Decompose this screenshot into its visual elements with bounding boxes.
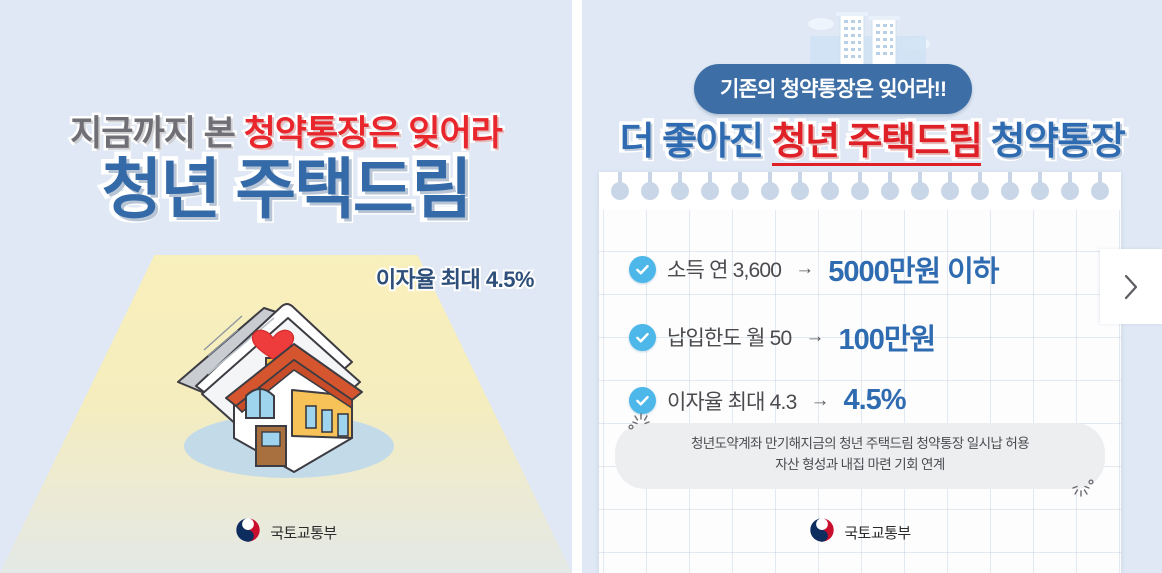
list-item: 이자율 최대 4.3 → 4.5% bbox=[629, 384, 1107, 417]
korea-government-taegeuk-logo bbox=[809, 517, 835, 548]
check-circle-icon bbox=[629, 256, 656, 283]
binding-hole bbox=[1001, 172, 1019, 206]
ministry-label-left: 국토교통부 bbox=[270, 522, 337, 543]
sparkle-icon bbox=[1069, 474, 1095, 507]
right-headline-highlight: 청년 주택드림 bbox=[772, 121, 982, 166]
left-headline-line1: 지금까지 본 청약통장은 잊어라 bbox=[0, 116, 572, 151]
binding-hole bbox=[911, 172, 929, 206]
arrow-right-icon: → bbox=[810, 390, 829, 412]
footnote-line2: 자산 형성과 내집 마련 기회 연계 bbox=[645, 455, 1075, 476]
bullet-value: 5000만원 이하 bbox=[828, 248, 998, 290]
binding-hole bbox=[731, 172, 749, 206]
ministry-footer-right: 국토교통부 bbox=[599, 517, 1121, 548]
binding-hole bbox=[641, 172, 659, 206]
footnote-line1: 청년도약계좌 만기해지금의 청년 주택드림 청약통장 일시납 허용 bbox=[645, 434, 1075, 455]
arrow-right-icon: → bbox=[805, 326, 824, 348]
binding-hole bbox=[821, 172, 839, 206]
bullet-label: 납입한도 월 50 bbox=[667, 322, 791, 352]
binding-hole bbox=[971, 172, 989, 206]
binding-hole bbox=[611, 172, 629, 206]
binding-hole bbox=[941, 172, 959, 206]
status-badge: 기존의 청약통장은 잊어라!! bbox=[694, 64, 972, 114]
slide-left[interactable]: 지금까지 본 청약통장은 잊어라 청년 주택드림 이자율 최대 4.5% bbox=[0, 0, 572, 573]
bullet-label: 소득 연 3,600 bbox=[667, 254, 781, 284]
right-headline-suffix: 청약통장 bbox=[991, 121, 1125, 163]
left-headline-red: 청약통장은 잊어라 bbox=[244, 114, 502, 153]
ministry-footer-left: 국토교통부 bbox=[0, 517, 572, 548]
arrow-right-icon: → bbox=[795, 258, 814, 280]
binding-hole bbox=[881, 172, 899, 206]
ministry-label-right: 국토교통부 bbox=[844, 522, 911, 543]
list-item: 납입한도 월 50 → 100만원 bbox=[629, 316, 1107, 358]
sparkle-icon bbox=[627, 411, 653, 444]
right-headline: 더 좋아진 청년 주택드림 청약통장 bbox=[582, 110, 1162, 165]
benefit-list: 소득 연 3,600 → 5000만원 이하 납입한도 월 50 → 100만원 bbox=[629, 248, 1107, 417]
binding-hole bbox=[1091, 172, 1109, 206]
carousel-next-button[interactable] bbox=[1100, 249, 1162, 324]
binding-hole bbox=[851, 172, 869, 206]
bankbook-house-heart-illustration bbox=[146, 286, 426, 491]
chevron-right-icon bbox=[1121, 271, 1141, 303]
binding-hole bbox=[1031, 172, 1049, 206]
binding-hole bbox=[791, 172, 809, 206]
binding-hole bbox=[701, 172, 719, 206]
left-headline-block: 지금까지 본 청약통장은 잊어라 청년 주택드림 bbox=[0, 116, 572, 224]
footnote-box: 청년도약계좌 만기해지금의 청년 주택드림 청약통장 일시납 허용 자산 형성과… bbox=[615, 423, 1105, 489]
notebook-binding-holes bbox=[599, 172, 1121, 210]
bullet-label: 이자율 최대 4.3 bbox=[667, 386, 796, 416]
infographic-carousel: 지금까지 본 청약통장은 잊어라 청년 주택드림 이자율 최대 4.5% bbox=[0, 0, 1162, 573]
binding-hole bbox=[1061, 172, 1079, 206]
slide-right[interactable]: 기존의 청약통장은 잊어라!! 더 좋아진 청년 주택드림 청약통장 bbox=[582, 0, 1162, 573]
left-headline-gray: 지금까지 본 bbox=[70, 114, 235, 153]
panel-gutter bbox=[572, 0, 582, 573]
check-circle-icon bbox=[629, 324, 656, 351]
list-item: 소득 연 3,600 → 5000만원 이하 bbox=[629, 248, 1107, 290]
left-headline-line2: 청년 주택드림 bbox=[0, 155, 572, 224]
binding-hole bbox=[671, 172, 689, 206]
bullet-value: 4.5% bbox=[843, 384, 905, 417]
left-subtitle: 이자율 최대 4.5% bbox=[376, 262, 534, 294]
notebook-sheet: 소득 연 3,600 → 5000만원 이하 납입한도 월 50 → 100만원 bbox=[599, 172, 1121, 573]
korea-government-taegeuk-logo bbox=[235, 517, 261, 548]
right-headline-prefix: 더 좋아진 bbox=[620, 121, 763, 163]
binding-hole bbox=[761, 172, 779, 206]
bullet-value: 100만원 bbox=[838, 316, 935, 358]
check-circle-icon bbox=[629, 387, 656, 414]
